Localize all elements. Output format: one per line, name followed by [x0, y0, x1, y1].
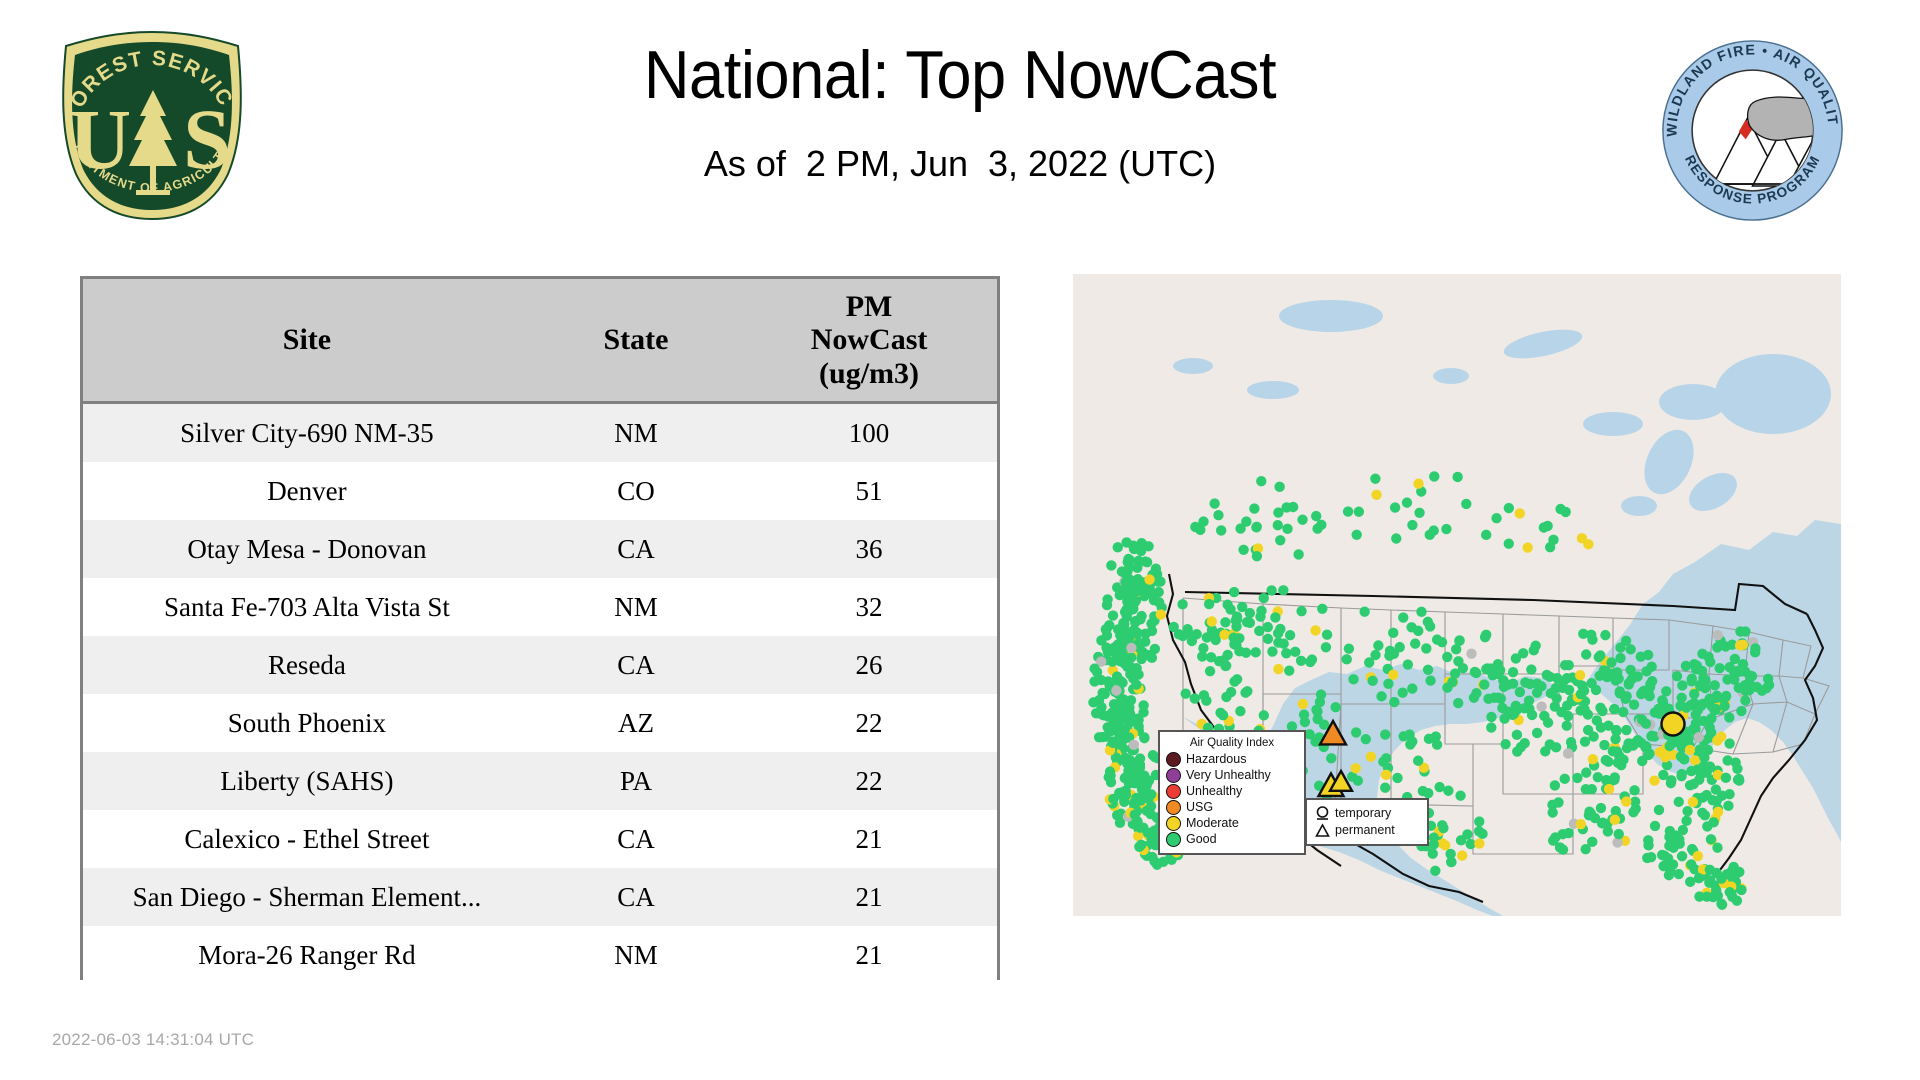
monitor-dot	[1123, 557, 1133, 567]
monitor-dot	[1293, 549, 1303, 559]
monitor-dot	[1108, 610, 1118, 620]
monitor-dot	[1474, 816, 1484, 826]
monitor-dot	[1096, 702, 1106, 712]
monitor-dot	[1702, 821, 1712, 831]
monitor-dot	[1716, 898, 1726, 908]
monitor-dot	[1629, 785, 1639, 795]
monitor-dot	[1298, 699, 1308, 709]
monitor-dot	[1664, 870, 1674, 880]
monitor-dot	[1732, 895, 1742, 905]
monitor-dot	[1118, 787, 1128, 797]
monitor-dot	[1126, 695, 1136, 705]
monitor-dot	[1273, 664, 1283, 674]
monitor-dot	[1220, 661, 1230, 671]
monitor-dot	[1135, 822, 1145, 832]
monitor-dot	[1706, 834, 1716, 844]
legend-row-good: Good	[1166, 831, 1298, 847]
monitor-dot	[1423, 617, 1433, 627]
monitor-dot	[1108, 794, 1118, 804]
monitor-dot	[1596, 722, 1606, 732]
legend-swatch-icon	[1166, 832, 1181, 847]
monitor-dot	[1615, 642, 1625, 652]
monitor-dot	[1479, 679, 1489, 689]
usfs-shield-logo: FOREST SERVICE DEPARTMENT OF AGRICULTURE…	[52, 28, 252, 223]
table-row[interactable]: Mora-26 Ranger RdNM21	[83, 926, 997, 984]
page-title: National: Top NowCast	[346, 40, 1574, 111]
monitor-dot	[1413, 756, 1423, 766]
legend-row-very-unhealthy: Very Unhealthy	[1166, 767, 1298, 783]
monitor-dot	[1581, 649, 1591, 659]
monitor-dot	[1275, 535, 1285, 545]
legend-row-usg: USG	[1166, 799, 1298, 815]
monitor-dot	[1364, 657, 1374, 667]
monitor-dot	[1523, 542, 1533, 552]
monitor-dot	[1661, 686, 1671, 696]
monitor-dot	[1695, 681, 1705, 691]
table-header-row: Site State PM NowCast (ug/m3)	[83, 279, 997, 403]
monitor-dot	[1676, 751, 1686, 761]
value-cell: 21	[741, 926, 997, 984]
value-cell: 51	[741, 462, 997, 520]
monitor-dot	[1558, 676, 1568, 686]
monitor-dot	[1096, 675, 1106, 685]
monitor-dot	[1326, 753, 1336, 763]
monitor-dot	[1390, 502, 1400, 512]
monitor-dot	[1342, 654, 1352, 664]
site-cell: Mora-26 Ranger Rd	[83, 926, 531, 984]
table-row[interactable]: Otay Mesa - DonovanCA36	[83, 520, 997, 578]
monitor-dot	[1706, 727, 1716, 737]
monitor-dot	[1486, 722, 1496, 732]
column-header-pm-nowcast[interactable]: PM NowCast (ug/m3)	[741, 279, 997, 403]
monitor-dot	[1282, 524, 1292, 534]
monitor-dot	[1453, 698, 1463, 708]
monitor-dot	[1388, 670, 1398, 680]
monitor-dot	[1618, 754, 1628, 764]
monitor-dot	[1353, 775, 1363, 785]
monitor-dot	[1440, 840, 1450, 850]
monitor-dot	[1750, 647, 1760, 657]
monitor-dot	[1407, 520, 1417, 530]
monitor-dot	[1599, 740, 1609, 750]
monitor-dot	[1241, 648, 1251, 658]
monitor-dot	[1284, 666, 1294, 676]
monitor-dot	[1120, 607, 1130, 617]
monitor-dot	[1249, 503, 1259, 513]
monitor-dot	[1512, 730, 1522, 740]
state-cell: NM	[531, 578, 741, 636]
monitor-dot	[1558, 844, 1568, 854]
monitor-dot	[1606, 657, 1616, 667]
monitor-dot	[1597, 706, 1607, 716]
monitor-dot	[1351, 763, 1361, 773]
monitor-dot	[1481, 630, 1491, 640]
monitor-dot	[1115, 818, 1125, 828]
value-cell: 21	[741, 810, 997, 868]
monitor-dot	[1108, 738, 1118, 748]
monitor-dot	[1190, 693, 1200, 703]
monitor-dot	[1380, 782, 1390, 792]
monitor-dot	[1273, 637, 1283, 647]
monitor-dot	[1580, 736, 1590, 746]
monitor-dot	[1241, 516, 1251, 526]
column-header-site[interactable]: Site	[83, 279, 531, 403]
monitor-dot	[1631, 804, 1641, 814]
table-row[interactable]: Santa Fe-703 Alta Vista StNM32	[83, 578, 997, 636]
table-row[interactable]: South PhoenixAZ22	[83, 694, 997, 752]
table-row[interactable]: DenverCO51	[83, 462, 997, 520]
monitor-dot	[1618, 707, 1628, 717]
monitor-dot	[1204, 599, 1214, 609]
monitor-dot	[1578, 629, 1588, 639]
monitor-dot	[1407, 683, 1417, 693]
monitor-dot	[1670, 736, 1680, 746]
monitor-dot	[1113, 542, 1123, 552]
monitor-dot	[1182, 624, 1192, 634]
monitor-dot	[1601, 755, 1611, 765]
monitor-dot	[1621, 796, 1631, 806]
monitor-dot	[1577, 533, 1587, 543]
monitor-dot	[1764, 680, 1774, 690]
monitor-dot	[1316, 689, 1326, 699]
monitor-dot	[1113, 642, 1123, 652]
monitor-dot	[1316, 520, 1326, 530]
monitor-dot	[1540, 746, 1550, 756]
monitor-dot	[1530, 641, 1540, 651]
monitor-dot	[1311, 705, 1321, 715]
monitor-dot	[1665, 826, 1675, 836]
monitor-dot	[1562, 721, 1572, 731]
monitor-dot	[1547, 800, 1557, 810]
monitor-dot	[1267, 646, 1277, 656]
monitor-dot	[1512, 746, 1522, 756]
monitor-dot	[1389, 697, 1399, 707]
monitor-dot	[1252, 522, 1262, 532]
monitor-dot	[1688, 797, 1698, 807]
monitor-dot	[1388, 628, 1398, 638]
legend-row-permanent: permanent	[1313, 822, 1421, 839]
monitor-dot	[1740, 626, 1750, 636]
legend-label: Hazardous	[1186, 753, 1246, 766]
triangle-icon	[1313, 823, 1332, 839]
monitor-dot	[1515, 508, 1525, 518]
monitor-dot	[1232, 674, 1242, 684]
monitor-dot	[1146, 801, 1156, 811]
monitor-dot	[1245, 608, 1255, 618]
monitor-dot	[1640, 742, 1650, 752]
monitor-dot	[1575, 670, 1585, 680]
monitor-dot	[1136, 546, 1146, 556]
legend-label: Very Unhealthy	[1186, 769, 1271, 782]
monitor-dot	[1219, 630, 1229, 640]
monitor-dot	[1598, 817, 1608, 827]
monitor-dot	[1311, 511, 1321, 521]
monitor-dot	[1215, 708, 1225, 718]
monitor-dot	[1668, 859, 1678, 869]
monitor-dot	[1604, 784, 1614, 794]
monitor-dot	[1595, 650, 1605, 660]
monitor-dot	[1643, 835, 1653, 845]
monitor-dot	[1351, 530, 1361, 540]
monitor-dot	[1367, 676, 1377, 686]
monitor-dot	[1376, 691, 1386, 701]
monitor-dot	[1405, 739, 1415, 749]
monitor-dot	[1564, 660, 1574, 670]
monitor-dot	[1712, 735, 1722, 745]
monitor-dot	[1378, 756, 1388, 766]
monitor-dot	[1256, 606, 1266, 616]
monitor-dot	[1392, 773, 1402, 783]
monitor-dot	[1610, 734, 1620, 744]
monitor-dot	[1515, 687, 1525, 697]
monitor-dot	[1429, 471, 1439, 481]
value-cell: 36	[741, 520, 997, 578]
page-subtitle: As of 2 PM, Jun 3, 2022 (UTC)	[300, 143, 1620, 185]
monitor-dot	[1610, 772, 1620, 782]
monitor-dot	[1150, 644, 1160, 654]
monitor-dot	[1330, 702, 1340, 712]
monitor-dot	[1106, 560, 1116, 570]
monitor-dot	[1699, 752, 1709, 762]
monitor-dot	[1466, 648, 1476, 658]
monitor-dot	[1647, 661, 1657, 671]
monitor-dot	[1111, 685, 1121, 695]
monitor-dot	[1689, 659, 1699, 669]
monitor-dot	[1461, 499, 1471, 509]
monitor-dot	[1493, 693, 1503, 703]
monitor-dot	[1716, 873, 1726, 883]
site-cell: Liberty (SAHS)	[83, 752, 531, 810]
monitor-dot	[1694, 891, 1704, 901]
monitor-dot	[1524, 695, 1534, 705]
monitor-dot	[1354, 507, 1364, 517]
monitor-dot	[1425, 675, 1435, 685]
table-row[interactable]: Calexico - Ethel StreetCA21	[83, 810, 997, 868]
legend-label: Unhealthy	[1186, 785, 1242, 798]
state-cell: CA	[531, 868, 741, 926]
monitor-dot	[1455, 790, 1465, 800]
monitor-dot	[1135, 579, 1145, 589]
monitor-dot	[1550, 780, 1560, 790]
monitor-dot	[1577, 680, 1587, 690]
monitor-dot	[1131, 793, 1141, 803]
monitor-dot	[1693, 851, 1703, 861]
monitor-dot	[1132, 714, 1142, 724]
monitor-dot	[1632, 671, 1642, 681]
monitor-dot	[1206, 652, 1216, 662]
monitor-dot	[1563, 828, 1573, 838]
monitor-dot	[1714, 663, 1724, 673]
monitor-dot	[1706, 713, 1716, 723]
monitor-dot	[1518, 648, 1528, 658]
monitor-dot	[1413, 479, 1423, 489]
monitor-dot	[1278, 585, 1288, 595]
monitor-dot	[1588, 754, 1598, 764]
site-cell: South Phoenix	[83, 694, 531, 752]
monitor-dot	[1290, 647, 1300, 657]
monitor-dot	[1190, 522, 1200, 532]
circle-icon	[1313, 806, 1332, 822]
monitor-dot	[1504, 539, 1514, 549]
monitor-dot	[1317, 604, 1327, 614]
monitor-dot	[1231, 621, 1241, 631]
state-cell: CA	[531, 810, 741, 868]
monitor-dot	[1666, 775, 1676, 785]
state-cell: CO	[531, 462, 741, 520]
monitor-dot	[1719, 701, 1729, 711]
monitor-dot	[1752, 682, 1762, 692]
page-header: FOREST SERVICE DEPARTMENT OF AGRICULTURE…	[0, 0, 1920, 225]
monitor-dot	[1274, 482, 1284, 492]
monitor-dot	[1437, 637, 1447, 647]
column-header-state[interactable]: State	[531, 279, 741, 403]
monitor-dot	[1421, 643, 1431, 653]
monitor-dot	[1722, 755, 1732, 765]
table-row[interactable]: San Diego - Sherman Element...CA21	[83, 868, 997, 926]
monitor-dot	[1380, 729, 1390, 739]
monitor-dot	[1579, 704, 1589, 714]
monitor-dot	[1660, 752, 1670, 762]
value-cell: 32	[741, 578, 997, 636]
monitor-dot	[1105, 766, 1115, 776]
monitor-dot	[1491, 513, 1501, 523]
monitor-dot	[1116, 695, 1126, 705]
monitor-dot	[1647, 676, 1657, 686]
monitor-dot	[1681, 816, 1691, 826]
monitor-dot	[1724, 738, 1734, 748]
monitor-dot	[1532, 728, 1542, 738]
monitor-dot	[1610, 815, 1620, 825]
monitor-dot	[1273, 507, 1283, 517]
monitor-dot	[1245, 618, 1255, 628]
monitor-dot	[1144, 574, 1154, 584]
state-cell: CA	[531, 636, 741, 694]
footer-timestamp: 2022-06-03 14:31:04 UTC	[52, 1030, 254, 1050]
table-row[interactable]: Silver City-690 NM-35NM100	[83, 403, 997, 463]
monitor-dot	[1259, 710, 1269, 720]
monitor-dot	[1263, 622, 1273, 632]
monitor-dot	[1697, 666, 1707, 676]
monitor-dot	[1270, 612, 1280, 622]
monitor-dot	[1201, 695, 1211, 705]
monitor-dot	[1500, 739, 1510, 749]
monitor-dot	[1131, 663, 1141, 673]
monitor-dot	[1555, 504, 1565, 514]
monitor-dot	[1685, 745, 1695, 755]
monitor-dot	[1305, 657, 1315, 667]
monitor-dot	[1692, 764, 1702, 774]
monitor-dot	[1281, 648, 1291, 658]
monitor-dot	[1586, 678, 1596, 688]
monitor-dot	[1138, 781, 1148, 791]
value-cell: 21	[741, 868, 997, 926]
monitor-dot	[1410, 638, 1420, 648]
monitor-dot	[1285, 630, 1295, 640]
monitor-dot	[1677, 769, 1687, 779]
monitor-dot	[1654, 805, 1664, 815]
monitor-dot	[1438, 823, 1448, 833]
value-cell: 22	[741, 694, 997, 752]
monitor-dot	[1273, 628, 1283, 638]
monitor-dot	[1114, 728, 1124, 738]
monitor-dot	[1381, 770, 1391, 780]
monitor-dot	[1445, 849, 1455, 859]
monitor-dot	[1712, 642, 1722, 652]
monitor-dot	[1104, 620, 1114, 630]
monitor-dot	[1235, 706, 1245, 716]
monitor-dot	[1343, 506, 1353, 516]
monitor-dot	[1252, 551, 1262, 561]
monitor-dot	[1310, 625, 1320, 635]
monitor-dot	[1125, 755, 1135, 765]
monitor-dot	[1710, 680, 1720, 690]
monitor-dot	[1102, 594, 1112, 604]
monitor-dot	[1123, 766, 1133, 776]
monitor-dot	[1156, 609, 1166, 619]
monitor-dot	[1636, 689, 1646, 699]
column-header-state-label: State	[603, 323, 668, 356]
monitor-dot	[1216, 525, 1226, 535]
monitor-dot	[1674, 834, 1684, 844]
monitor-dot	[1187, 636, 1197, 646]
table-row[interactable]: ResedaCA26	[83, 636, 997, 694]
monitor-dot	[1259, 593, 1269, 603]
monitor-dot	[1451, 644, 1461, 654]
monitor-dot	[1213, 510, 1223, 520]
monitor-dot	[1721, 773, 1731, 783]
monitor-dot	[1366, 752, 1376, 762]
monitor-dot	[1694, 873, 1704, 883]
monitor-dot	[1442, 652, 1452, 662]
monitor-dot	[1207, 616, 1217, 626]
monitor-dot	[1545, 672, 1555, 682]
site-cell: Silver City-690 NM-35	[83, 403, 531, 463]
air-quality-map[interactable]: Air Quality Index HazardousVery Unhealth…	[1073, 274, 1841, 916]
monitor-dot	[1140, 629, 1150, 639]
monitor-dot	[1198, 643, 1208, 653]
monitor-dot	[1713, 630, 1723, 640]
state-cell: CA	[531, 520, 741, 578]
monitor-dot	[1658, 861, 1668, 871]
monitor-dot	[1641, 719, 1651, 729]
monitor-dot	[1532, 688, 1542, 698]
monitor-dot	[1610, 675, 1620, 685]
monitor-dot	[1441, 524, 1451, 534]
monitor-dot	[1674, 797, 1684, 807]
monitor-dot	[1697, 808, 1707, 818]
monitor-dot	[1543, 717, 1553, 727]
legend-row-temporary: temporary	[1313, 805, 1421, 822]
column-header-pm: PM	[846, 290, 893, 323]
monitor-dot	[1527, 710, 1537, 720]
monitor-dot	[1126, 643, 1136, 653]
monitor-dot	[1622, 743, 1632, 753]
monitor-dot	[1732, 666, 1742, 676]
monitor-dot	[1296, 606, 1306, 616]
monitor-marker-temporary[interactable]	[1662, 713, 1685, 736]
column-header-units: (ug/m3)	[819, 357, 919, 390]
monitor-dot	[1621, 725, 1631, 735]
monitor-dot	[1321, 642, 1331, 652]
table-row[interactable]: Liberty (SAHS)PA22	[83, 752, 997, 810]
monitor-dot	[1474, 826, 1484, 836]
monitor-dot	[1452, 472, 1462, 482]
monitor-dot	[1373, 640, 1383, 650]
monitor-dot	[1397, 687, 1407, 697]
monitor-dot	[1689, 779, 1699, 789]
monitor-dot	[1403, 659, 1413, 669]
state-cell: PA	[531, 752, 741, 810]
